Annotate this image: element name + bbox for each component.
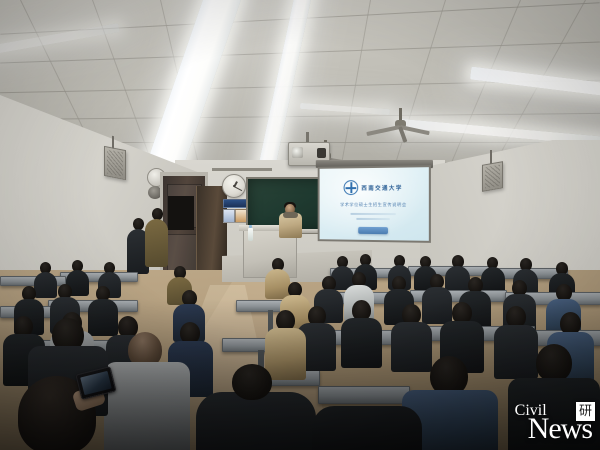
person-torso — [265, 269, 290, 299]
speaker-mount — [490, 150, 492, 164]
person-torso — [445, 266, 470, 292]
person-puffer-vest — [104, 362, 190, 450]
person-torso — [508, 378, 600, 450]
slide-text-line — [356, 218, 390, 220]
university-emblem-icon — [344, 180, 359, 195]
wall-speaker-left — [104, 146, 126, 180]
person-torso — [422, 287, 452, 324]
person-torso — [196, 392, 316, 450]
wall-sign — [223, 199, 247, 208]
university-name: 西南交通大学 — [361, 183, 402, 191]
wall-recess — [168, 196, 194, 230]
person-torso — [494, 325, 538, 379]
person-torso — [145, 219, 168, 267]
desk — [318, 386, 410, 404]
projection-screen: 西南交通大学 学术学位硕士生招生宣传说明会 — [318, 165, 431, 243]
slide-button — [358, 227, 388, 234]
wall-speaker-right — [482, 161, 503, 192]
person-head — [232, 364, 272, 400]
phone-screen — [80, 371, 112, 395]
presentation-slide: 西南交通大学 学术学位硕士生招生宣传说明会 — [320, 167, 429, 241]
wall-notice — [223, 209, 235, 223]
person-torso — [341, 318, 382, 368]
wall-clock-icon — [222, 174, 246, 198]
slide-text-line — [350, 213, 396, 215]
person-torso — [88, 299, 118, 336]
wall-trim — [212, 168, 272, 171]
presenter-scarf — [283, 212, 298, 218]
person-torso — [265, 328, 306, 380]
lecture-hall-photo: 西南交通大学 学术学位硕士生招生宣传说明会 — [0, 0, 600, 450]
person-torso — [34, 272, 57, 298]
person-head — [536, 344, 572, 382]
person-torso — [312, 406, 422, 450]
slide-subtitle: 学术学位硕士生招生宣传说明会 — [340, 202, 407, 208]
water-bottle — [248, 228, 253, 241]
person-torso — [391, 322, 432, 372]
